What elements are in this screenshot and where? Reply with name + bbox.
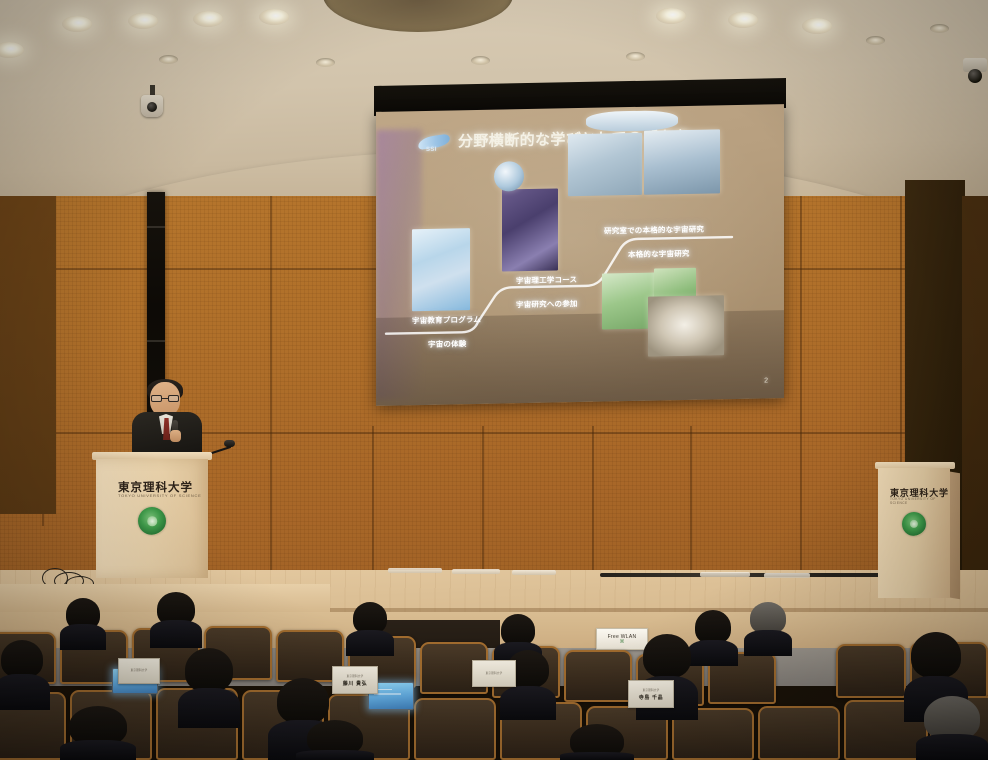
seat-name-placard: 東京理科大学	[472, 660, 516, 687]
ceiling-recessed-fixture-icon	[471, 56, 490, 65]
head	[277, 678, 329, 724]
ceiling-recessed-fixture-icon	[866, 36, 885, 45]
audience-member	[916, 696, 988, 760]
placard-header: 東京理科大学	[486, 671, 503, 675]
placard-header: 東京理科大学	[643, 688, 660, 692]
audience-member	[744, 602, 792, 656]
slide-page-number: 2	[764, 377, 768, 384]
slide-photo-lab-equipment-1	[568, 133, 642, 196]
ceiling-downlight-icon	[259, 9, 289, 25]
university-emblem-icon	[902, 512, 926, 536]
head	[695, 610, 731, 644]
shoulders	[560, 752, 634, 760]
slide-photo-lab-equipment-2	[644, 129, 720, 194]
shoulders	[60, 624, 106, 650]
audience-member	[0, 640, 50, 710]
camera-lens	[968, 69, 982, 83]
ceiling-downlight-icon	[802, 18, 832, 34]
lectern-university-name-en: TOKYO UNIVERSITY OF SCIENCE	[890, 497, 950, 505]
shoulders	[0, 674, 50, 710]
audience-member	[178, 648, 240, 728]
audience-member	[150, 592, 202, 648]
lectern-body: 東京理科大学 TOKYO UNIVERSITY OF SCIENCE	[878, 468, 950, 598]
wall-left-shadow	[0, 196, 56, 514]
shoulders	[60, 740, 136, 760]
slide-photo-antenna	[586, 110, 678, 132]
audience-member	[60, 706, 136, 760]
audience-member	[346, 602, 394, 656]
slide-photo-course-brochure	[502, 188, 558, 271]
cable-cover	[700, 572, 750, 577]
audience-member	[296, 720, 374, 760]
camera-lens	[147, 102, 157, 112]
cable-cover	[388, 568, 442, 573]
lens-right	[168, 395, 179, 402]
mic-head	[224, 440, 235, 447]
seat-name-placard: 東京理科大学 寺島 千晶	[628, 680, 674, 708]
lectern-left: 東京理科大学 TOKYO UNIVERSITY OF SCIENCE	[96, 452, 208, 578]
seat[interactable]	[414, 698, 496, 760]
cable-cover	[764, 573, 810, 578]
wall-right-shadow	[962, 196, 988, 596]
lens-left	[151, 395, 162, 402]
ceiling-downlight-icon	[0, 42, 24, 58]
shoulders	[296, 750, 374, 760]
slide-caption: 宇宙の体験	[428, 338, 467, 350]
head	[185, 648, 233, 692]
head	[1, 640, 43, 678]
seat[interactable]	[564, 650, 632, 702]
shoulders	[150, 620, 202, 648]
seat-name-placard: 東京理科大学	[118, 658, 160, 684]
shoulders	[500, 686, 556, 720]
ceiling-downlight-icon	[728, 12, 758, 28]
ceiling-downlight-icon	[128, 13, 158, 29]
shoulders	[178, 688, 240, 728]
shoulders	[744, 630, 792, 656]
lectern-right: 東京理科大学 TOKYO UNIVERSITY OF SCIENCE	[878, 462, 950, 598]
shoulders	[346, 630, 394, 656]
glasses-icon	[151, 395, 179, 402]
audience-member	[560, 724, 634, 760]
ceiling-downlight-icon	[62, 16, 92, 32]
head	[911, 632, 961, 678]
shoulders	[916, 734, 988, 760]
screen-line	[374, 693, 400, 695]
ceiling-recessed-fixture-icon	[159, 55, 178, 64]
lectern-body: 東京理科大学 TOKYO UNIVERSITY OF SCIENCE	[96, 459, 208, 578]
ceiling-recessed-fixture-icon	[626, 52, 645, 61]
ceiling-recessed-fixture-icon	[316, 58, 335, 67]
cable-cover	[512, 570, 556, 575]
speaker-seam	[147, 226, 165, 228]
placard-name: 寺島 千晶	[639, 694, 663, 701]
audience-member	[60, 598, 106, 650]
slide-photo-spiral-specimen	[648, 295, 724, 356]
slide-caption: 本格的な宇宙研究	[628, 248, 690, 260]
ceiling-recessed-fixture-icon	[930, 24, 949, 33]
cable-cover	[452, 569, 500, 574]
auditorium-scene: SSI 分野横断的な学びとしての「宇宙」 宇宙教育プログラム 宇宙の体験 宇宙理…	[0, 0, 988, 760]
placard-header: 東京理科大学	[347, 674, 364, 678]
speaker-seam	[147, 340, 165, 342]
presenter-hand	[170, 430, 181, 442]
slide-caption: 研究室での本格的な宇宙研究	[604, 224, 704, 237]
ceiling-camera-icon	[141, 85, 163, 117]
slide-caption: 宇宙理工学コース	[516, 274, 577, 286]
university-emblem-icon	[138, 507, 166, 535]
slide-caption: 宇宙教育プログラム	[412, 314, 481, 326]
screen-surface: SSI 分野横断的な学びとしての「宇宙」 宇宙教育プログラム 宇宙の体験 宇宙理…	[376, 104, 784, 406]
head	[643, 634, 691, 678]
slide-caption: 宇宙研究への参加	[516, 298, 578, 310]
seat-name-placard: 東京理科大学 藤川 貴弘	[332, 666, 378, 694]
projection-screen: SSI 分野横断的な学びとしての「宇宙」 宇宙教育プログラム 宇宙の体験 宇宙理…	[370, 82, 790, 417]
placard-header: 東京理科大学	[131, 668, 148, 672]
ceiling-downlight-icon	[193, 11, 223, 27]
ceiling-oval-recess	[323, 0, 513, 32]
wall-panel-seam	[800, 196, 802, 596]
placard-name: 藤川 貴弘	[343, 680, 367, 687]
wall-panel-seam	[270, 196, 272, 576]
slide-photo-space-education	[412, 228, 470, 311]
seat[interactable]	[758, 706, 840, 760]
ceiling-downlight-icon	[656, 8, 686, 24]
seat[interactable]	[836, 644, 906, 698]
wall-camera-icon	[963, 58, 987, 84]
lectern-university-name-en: TOKYO UNIVERSITY OF SCIENCE	[118, 493, 201, 498]
